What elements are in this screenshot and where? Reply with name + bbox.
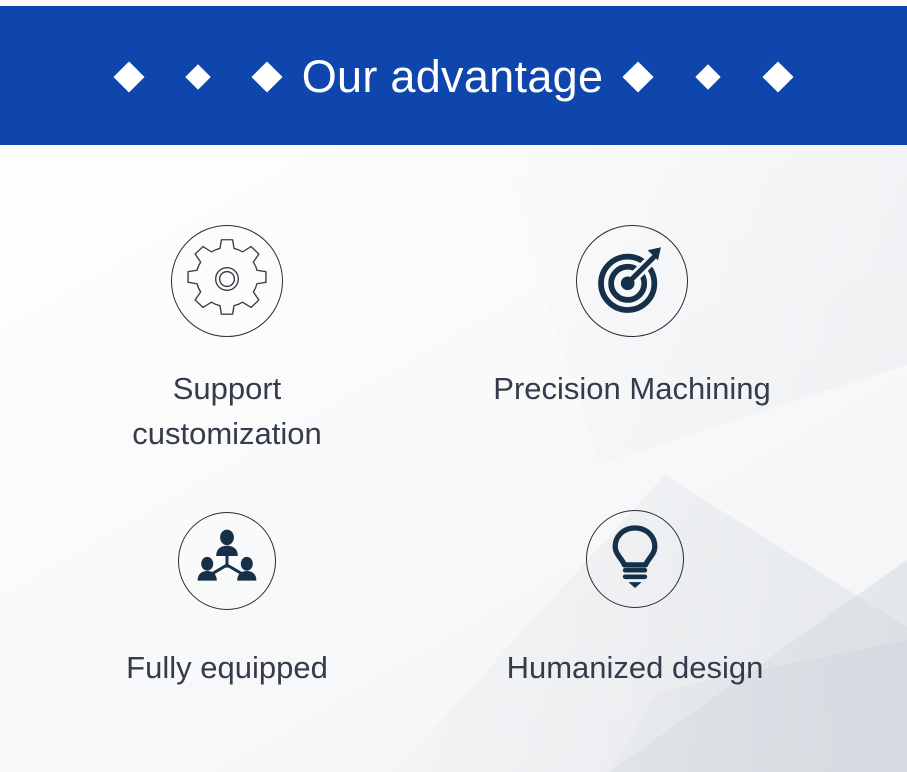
advantage-card-label: Humanized design xyxy=(507,646,764,691)
gear-icon xyxy=(186,238,268,325)
section-header-band: Our advantage xyxy=(0,6,907,145)
section-title: Our advantage xyxy=(302,54,604,99)
icon-circle-frame xyxy=(171,225,283,337)
advantage-card-humanized-design: Humanized design xyxy=(485,510,785,691)
advantage-card-grid: Support customization xyxy=(0,145,907,772)
icon-circle-frame xyxy=(586,510,684,608)
diamond-icon-left-2 xyxy=(185,64,210,89)
spacer xyxy=(649,76,699,77)
advantage-body: Support customization xyxy=(0,145,907,772)
advantage-card-fully-equipped: Fully equipped xyxy=(77,512,377,691)
advantage-card-precision-machining: Precision Machining xyxy=(482,225,782,412)
diamond-icon-right-2 xyxy=(696,64,721,89)
diamond-icon-left-3 xyxy=(251,61,282,92)
advantage-card-label: Support customization xyxy=(132,367,322,457)
icon-circle-frame xyxy=(576,225,688,337)
diamond-icon-right-3 xyxy=(763,61,794,92)
diamond-icon-left-1 xyxy=(113,61,144,92)
advantage-card-support-customization: Support customization xyxy=(77,225,377,457)
spacer xyxy=(140,76,189,77)
advantage-card-label: Precision Machining xyxy=(493,367,770,412)
target-arrow-icon xyxy=(596,243,668,320)
spacer xyxy=(207,76,256,77)
diamond-icon-right-1 xyxy=(623,61,654,92)
header-content: Our advantage xyxy=(118,54,790,99)
lightbulb-icon xyxy=(607,524,663,595)
icon-circle-frame xyxy=(178,512,276,610)
org-chart-people-icon xyxy=(194,528,260,595)
advantage-card-label: Fully equipped xyxy=(126,646,328,691)
spacer xyxy=(717,76,767,77)
advantage-section: Our advantage xyxy=(0,0,907,772)
